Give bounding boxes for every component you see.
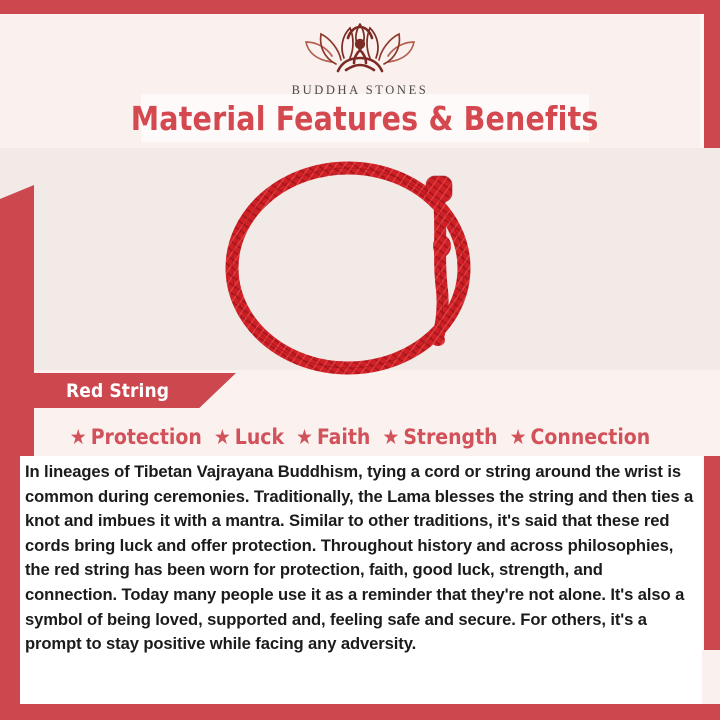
frame-top-bar bbox=[0, 0, 720, 14]
keyword-label: Strength bbox=[403, 425, 497, 449]
poster-root: BUDDHA STONES Material Features & Benefi… bbox=[0, 0, 720, 720]
lotus-meditating-figure-icon bbox=[0, 18, 720, 80]
keyword-protection: ★ Protection bbox=[70, 425, 202, 449]
keyword-luck: ★ Luck bbox=[214, 425, 284, 449]
keyword-connection: ★ Connection bbox=[510, 425, 651, 449]
ribbon-label: Red String bbox=[66, 380, 169, 402]
page-title: Material Features & Benefits bbox=[131, 99, 599, 138]
star-icon: ★ bbox=[510, 427, 527, 448]
star-icon: ★ bbox=[70, 427, 87, 448]
keyword-label: Faith bbox=[317, 425, 370, 449]
description-text: In lineages of Tibetan Vajrayana Buddhis… bbox=[25, 460, 694, 657]
keyword-faith: ★ Faith bbox=[296, 425, 370, 449]
keyword-label: Connection bbox=[531, 425, 651, 449]
benefit-keywords-row: ★ Protection ★ Luck ★ Faith ★ Strength ★… bbox=[0, 420, 720, 454]
star-icon: ★ bbox=[382, 427, 399, 448]
product-ribbon: Red String bbox=[20, 373, 236, 408]
title-banner: Material Features & Benefits bbox=[141, 94, 589, 142]
star-icon: ★ bbox=[296, 427, 313, 448]
keyword-label: Luck bbox=[235, 425, 284, 449]
red-braided-cord-bracelet-image bbox=[0, 150, 720, 375]
keyword-label: Protection bbox=[91, 425, 202, 449]
brand-logo: BUDDHA STONES bbox=[0, 18, 720, 98]
description-panel: In lineages of Tibetan Vajrayana Buddhis… bbox=[20, 456, 702, 704]
frame-bottom-bar bbox=[0, 704, 720, 720]
keyword-strength: ★ Strength bbox=[382, 425, 497, 449]
star-icon: ★ bbox=[214, 427, 231, 448]
